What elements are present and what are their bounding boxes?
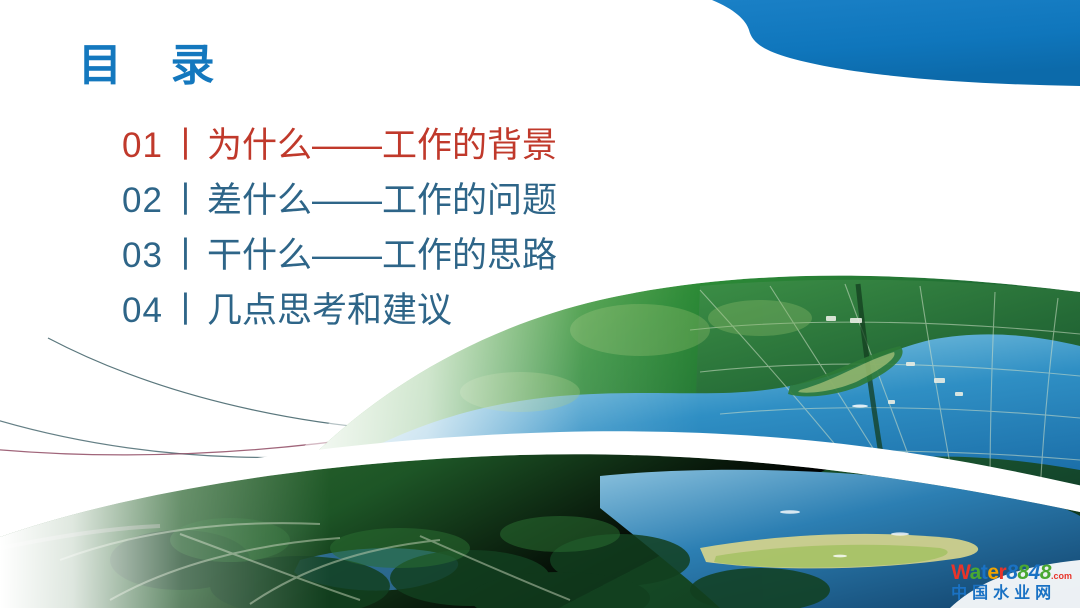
toc-item-01-label: 为什么——工作的背景	[207, 126, 557, 165]
page-title: 目 录	[78, 42, 222, 90]
toc-item-02-number: 02	[122, 181, 165, 220]
toc-item-04-number: 04	[122, 291, 165, 330]
toc-item-01-number: 01	[122, 126, 165, 165]
toc-item-01[interactable]: 01丨为什么——工作的背景	[122, 118, 557, 173]
toc-item-03-separator: 丨	[165, 236, 207, 275]
toc-item-02-label: 差什么——工作的问题	[207, 181, 557, 220]
watermark-logo: Water8848.com	[951, 562, 1072, 583]
toc-item-04-separator: 丨	[165, 291, 207, 330]
toc-item-03-label: 干什么——工作的思路	[207, 236, 557, 275]
toc-item-02-separator: 丨	[165, 181, 207, 220]
watermark-letter-a: a	[970, 561, 981, 584]
watermark-letter-e: e	[987, 561, 998, 584]
watermark-chinese-name: 中国水业网	[951, 586, 1072, 602]
toc-item-03[interactable]: 03丨干什么——工作的思路	[122, 228, 557, 283]
watermark-digit-4: 8	[1040, 561, 1051, 584]
watermark-digit-1: 8	[1006, 561, 1017, 584]
slide-canvas: 目 录 01丨为什么——工作的背景 02丨差什么——工作的问题 03丨干什么——…	[0, 0, 1080, 608]
watermark-letter-w: W	[951, 561, 970, 584]
toc-list: 01丨为什么——工作的背景 02丨差什么——工作的问题 03丨干什么——工作的思…	[122, 118, 557, 338]
toc-item-03-number: 03	[122, 236, 165, 275]
watermark-digit-3: 4	[1029, 561, 1040, 584]
watermark-tld: .com	[1051, 571, 1072, 581]
toc-item-01-separator: 丨	[165, 126, 207, 165]
toc-item-02[interactable]: 02丨差什么——工作的问题	[122, 173, 557, 228]
watermark-digit-2: 8	[1017, 561, 1028, 584]
toc-item-04[interactable]: 04丨几点思考和建议	[122, 283, 557, 338]
site-watermark: Water8848.com 中国水业网	[951, 562, 1072, 602]
toc-item-04-label: 几点思考和建议	[207, 291, 452, 330]
